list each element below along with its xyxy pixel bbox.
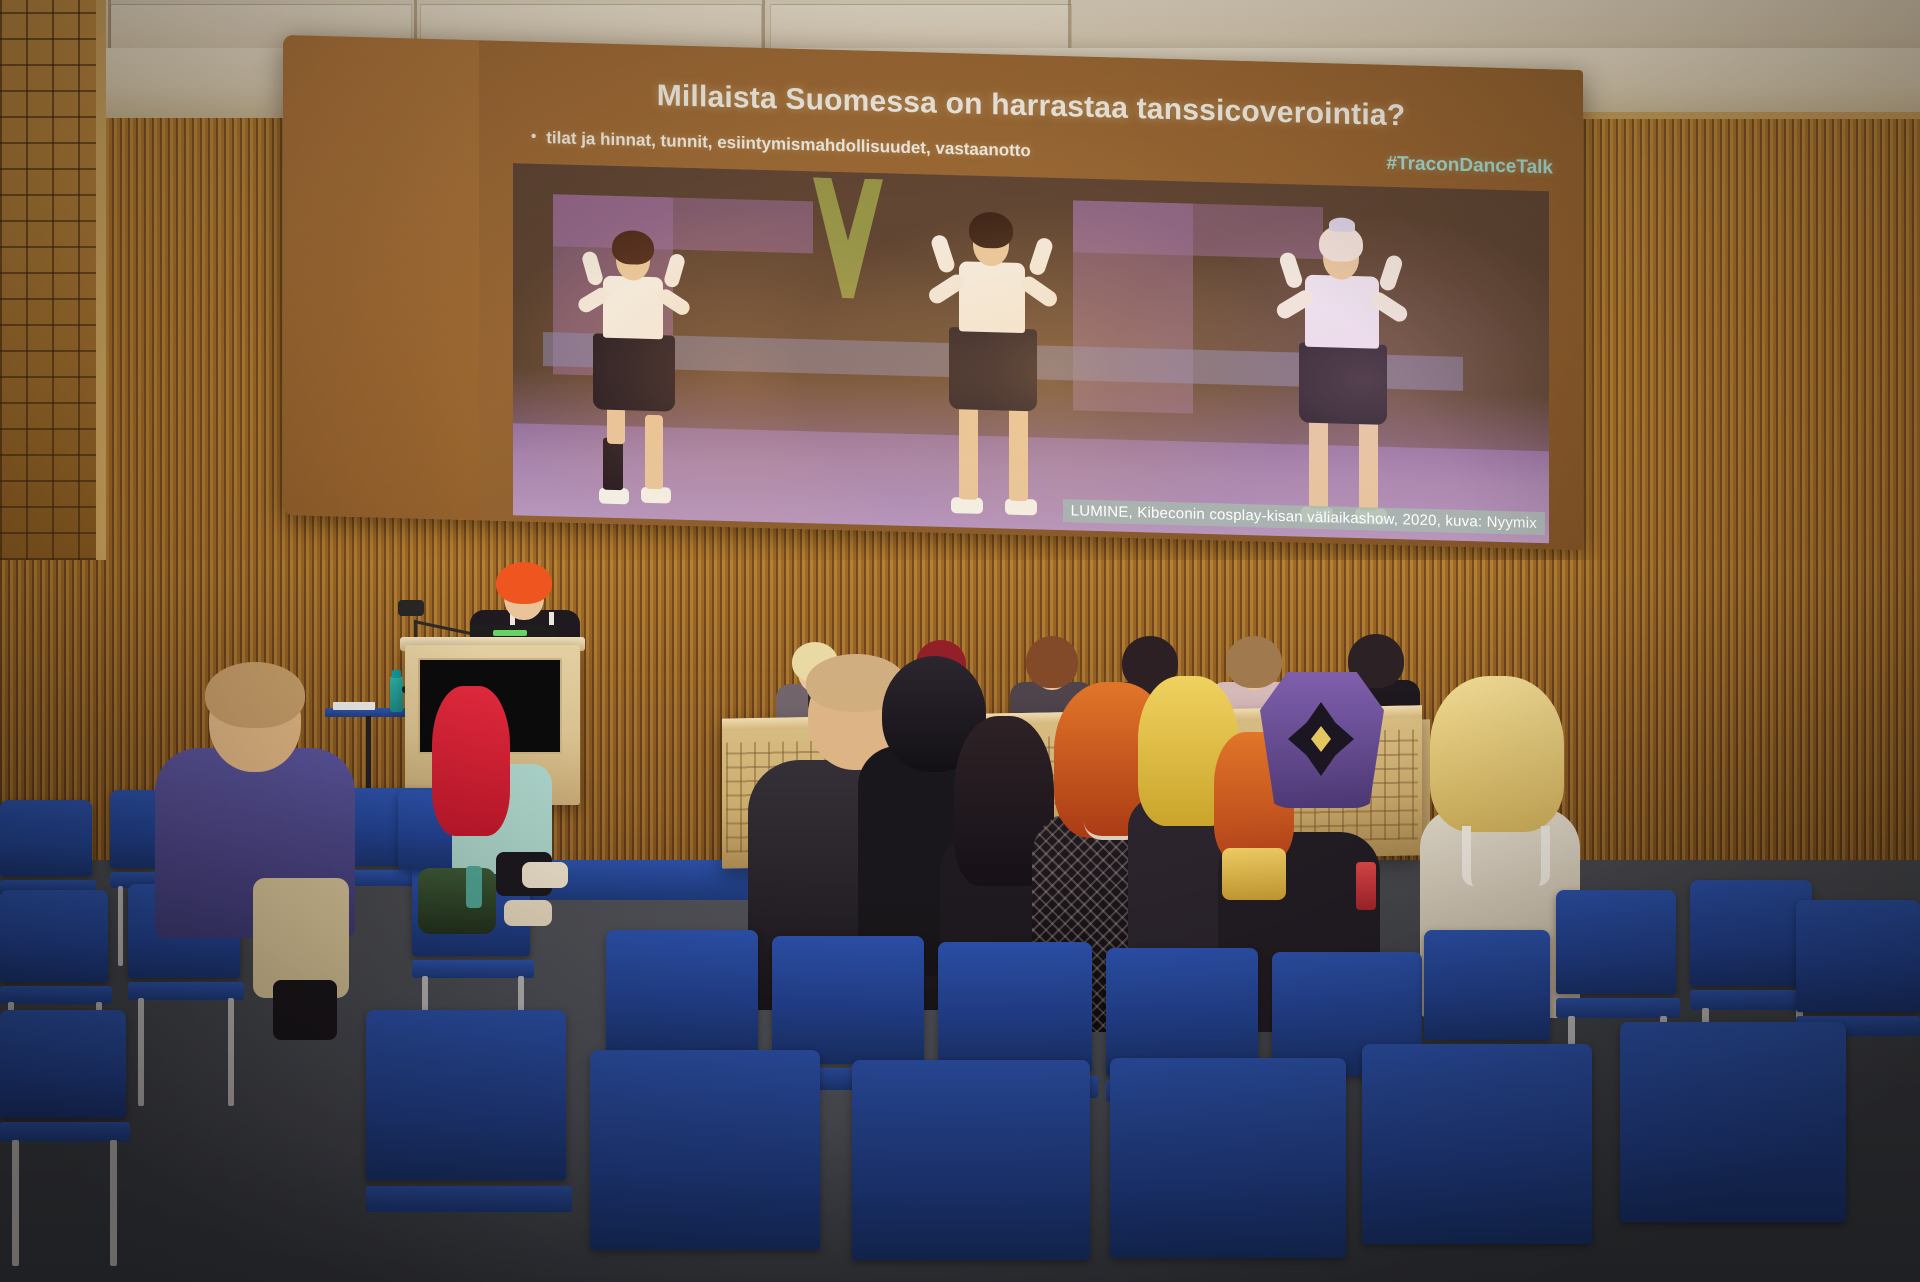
slide-hashtag: #TraconDanceTalk bbox=[1386, 153, 1553, 180]
slide-bullet-item: •tilat ja hinnat, tunnit, esiintymismahd… bbox=[531, 128, 1031, 162]
speaker-hair bbox=[496, 562, 552, 604]
audience-hair bbox=[1430, 676, 1564, 832]
panelist-hair bbox=[1026, 636, 1078, 688]
slide-title: Millaista Suomessa on harrastaa tanssico… bbox=[479, 74, 1583, 138]
perforated-acoustic-panel bbox=[0, 0, 100, 560]
microphone-head-icon bbox=[398, 600, 424, 616]
slide-bullet-text: tilat ja hinnat, tunnit, esiintymismahdo… bbox=[546, 128, 1031, 160]
slide-photo: LUMINE, Kibeconin cosplay-kisan väliaika… bbox=[513, 163, 1549, 543]
backpack bbox=[418, 868, 496, 934]
audience-shoe bbox=[504, 900, 552, 926]
audience-strap bbox=[1462, 826, 1550, 886]
screen-blank-area bbox=[283, 35, 479, 520]
laptop-screen-glow bbox=[493, 630, 527, 636]
auditorium-photo: Millaista Suomessa on harrastaa tanssico… bbox=[0, 0, 1920, 1282]
photo-stage-lighting bbox=[513, 163, 1549, 543]
ceiling-panel bbox=[770, 4, 1072, 52]
cosplay-tassel bbox=[1356, 862, 1376, 910]
bullet-marker-icon: • bbox=[531, 128, 536, 145]
backpack-bottle bbox=[466, 866, 482, 908]
cosplay-gold-trim bbox=[1222, 848, 1286, 900]
water-bottle-cap bbox=[392, 670, 401, 678]
water-bottle bbox=[390, 676, 403, 712]
audience-boot bbox=[273, 980, 337, 1040]
audience-shoe bbox=[522, 862, 568, 888]
audience-hair bbox=[432, 686, 510, 836]
panel-edge-trim bbox=[96, 0, 106, 560]
audience-hair bbox=[205, 662, 305, 728]
projection-screen: Millaista Suomessa on harrastaa tanssico… bbox=[283, 35, 1583, 550]
presentation-slide: Millaista Suomessa on harrastaa tanssico… bbox=[479, 40, 1583, 550]
audience-member-purple-shirt bbox=[155, 662, 355, 1002]
